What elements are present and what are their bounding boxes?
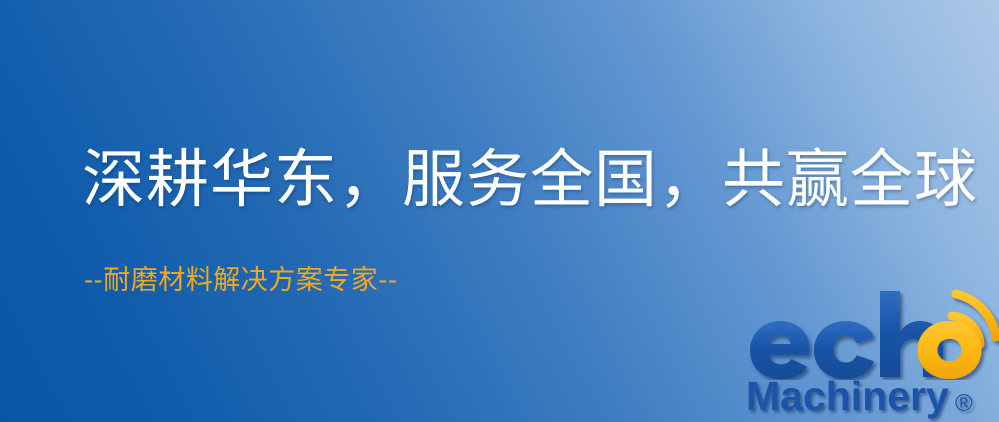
logo-letter-o bbox=[918, 321, 982, 379]
promo-banner: 深耕华东，服务全国，共赢全球 --耐磨材料解决方案专家-- bbox=[0, 0, 999, 422]
logo-letter-e bbox=[750, 321, 809, 379]
banner-subtitle: --耐磨材料解决方案专家-- bbox=[84, 267, 398, 294]
company-logo: Machinery ® bbox=[744, 288, 999, 422]
logo-tagline-text: Machinery bbox=[746, 373, 949, 419]
logo-machinery-tagline: Machinery ® bbox=[746, 372, 999, 422]
logo-letter-c bbox=[814, 321, 874, 379]
logo-registered-mark: ® bbox=[955, 390, 973, 417]
logo-echo-wordmark bbox=[744, 288, 999, 380]
banner-headline: 深耕华东，服务全国，共赢全球 bbox=[82, 148, 978, 211]
